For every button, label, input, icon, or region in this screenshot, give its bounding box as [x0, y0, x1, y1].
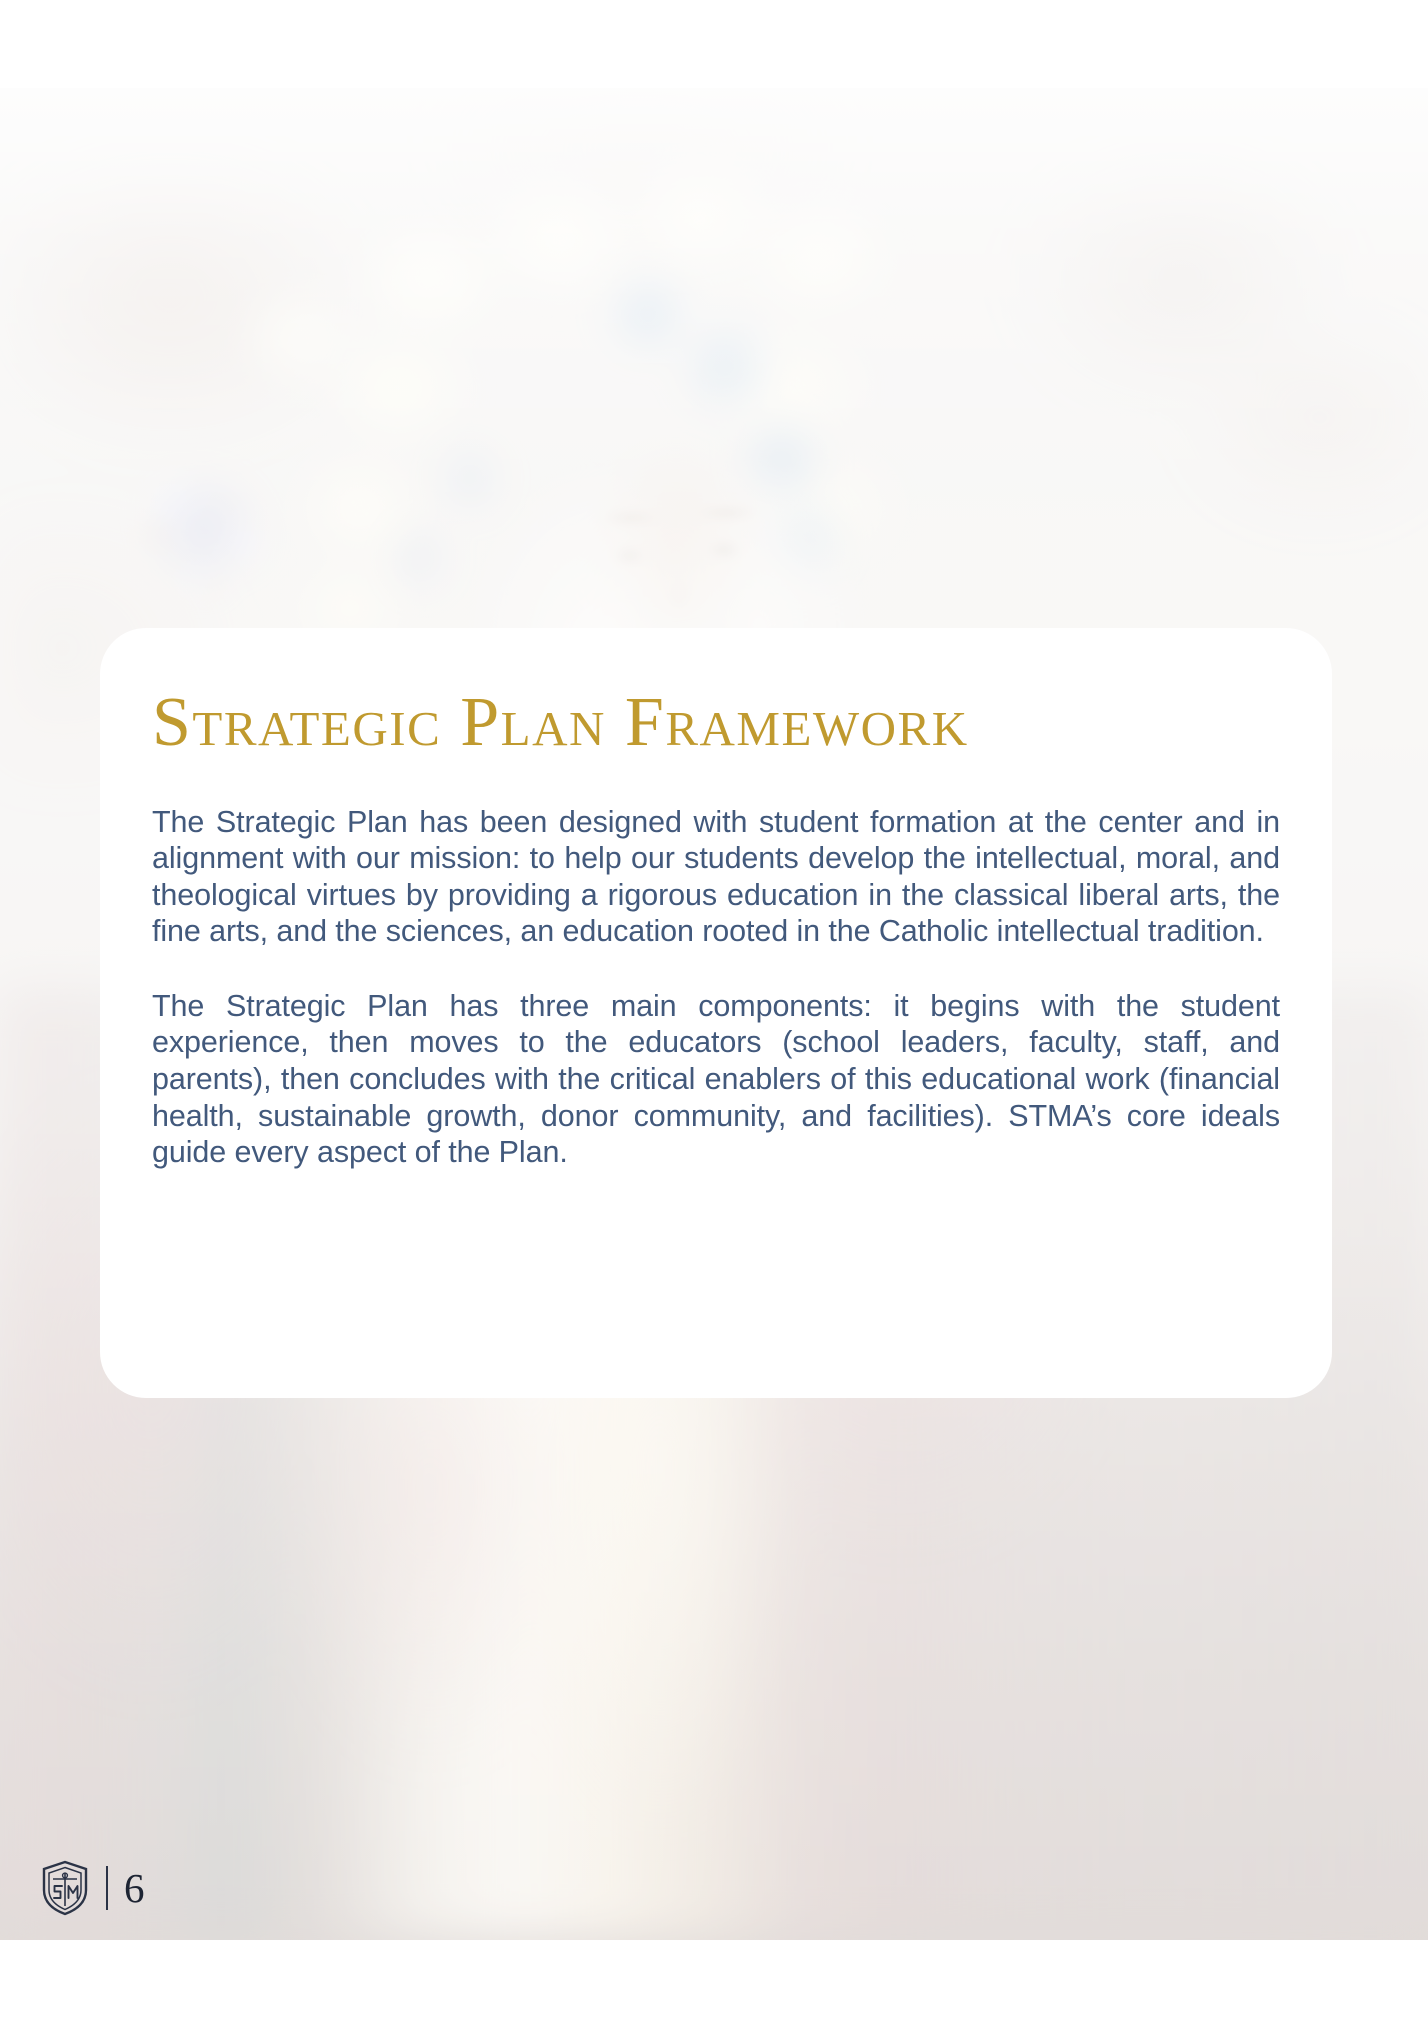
page-footer: 6 [40, 1860, 145, 1916]
footer-divider [106, 1866, 108, 1910]
page-number: 6 [124, 1868, 145, 1909]
body-text: The Strategic Plan has been designed wit… [152, 804, 1280, 1171]
page-title: Strategic Plan Framework [152, 686, 1280, 760]
paragraph-1: The Strategic Plan has been designed wit… [152, 804, 1280, 950]
content-card: Strategic Plan Framework The Strategic P… [100, 628, 1332, 1398]
shield-crest-icon [40, 1860, 90, 1916]
document-page: Strategic Plan Framework The Strategic P… [0, 0, 1428, 2028]
paragraph-2: The Strategic Plan has three main compon… [152, 988, 1280, 1171]
